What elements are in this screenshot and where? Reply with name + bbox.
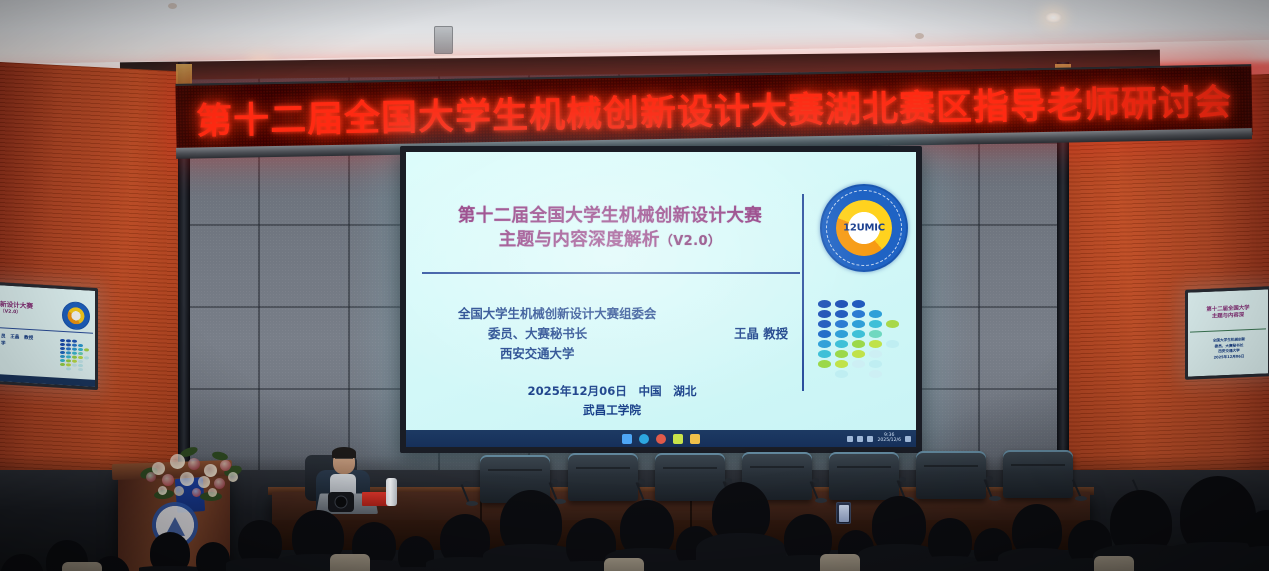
dot-cell <box>78 352 83 355</box>
dot-cell <box>818 310 831 318</box>
dot-cell <box>72 347 77 350</box>
battery-icon[interactable] <box>905 436 911 442</box>
auditorium-seat-back <box>62 562 102 571</box>
network-icon[interactable] <box>857 436 863 442</box>
slide-dot-matrix-graphic <box>818 300 910 384</box>
dot-cell <box>835 350 848 358</box>
audience <box>0 470 1269 571</box>
edge-icon[interactable] <box>639 434 649 444</box>
dot-cell <box>60 351 65 354</box>
dot-cell <box>852 360 865 368</box>
dot-cell <box>869 340 882 348</box>
dot-cell <box>886 340 899 348</box>
taskbar-tray[interactable]: 9:36 2025/12/6 <box>847 430 911 447</box>
dot-cell <box>852 330 865 338</box>
side-monitor-left-version: （V2.0） <box>0 309 66 319</box>
dot-cell <box>818 350 831 358</box>
dot-cell <box>66 347 71 350</box>
slide-title-line2-wrap: 主题与内容深度解析（V2.0） <box>424 228 796 252</box>
audience-head <box>150 532 190 571</box>
dot-cell <box>835 300 848 308</box>
presenter-hair <box>332 447 356 458</box>
dot-cell <box>66 355 71 358</box>
slide-org-row2: 委员、大赛秘书长 王晶 教授 <box>428 324 796 344</box>
audience-head <box>196 542 230 571</box>
auditorium-seat-back <box>1094 556 1134 571</box>
slide-host-line: 武昌工学院 <box>428 401 796 420</box>
folder-icon[interactable] <box>690 434 700 444</box>
dot-cell <box>835 320 848 328</box>
slide-org-line3: 西安交通大学 <box>428 344 796 364</box>
dot-cell <box>84 348 89 351</box>
dot-cell <box>852 340 865 348</box>
side-monitor-left-dot-matrix <box>60 339 90 371</box>
dot-cell <box>60 347 65 350</box>
dot-cell <box>66 363 71 366</box>
taskbar-icon-group[interactable] <box>622 434 700 444</box>
dot-cell <box>852 310 865 318</box>
conference-hall-photo: 第十二届全国大学生机械创新设计大赛湖北赛区指导老师研讨会 第十二届全国大学生机械… <box>0 0 1269 571</box>
dot-cell <box>78 364 83 367</box>
phone-screen <box>839 505 849 522</box>
side-monitor-right-body: 全国大学生机械创新 委员、大赛秘书长 西安交通大学 2025年12月06日 <box>1196 337 1262 362</box>
dot-cell <box>60 343 65 346</box>
start-icon[interactable] <box>622 434 632 444</box>
screen-surface: 第十二届全国大学生机械创新设计大赛 主题与内容深度解析（V2.0） 全国大学生机… <box>406 152 916 447</box>
dot-cell <box>72 351 77 354</box>
slide-title-line2: 主题与内容深度解析 <box>499 230 660 250</box>
dot-cell <box>72 363 77 366</box>
dot-cell <box>852 320 865 328</box>
dot-cell <box>818 320 831 328</box>
dot-cell <box>78 360 83 363</box>
presentation-slide: 第十二届全国大学生机械创新设计大赛 主题与内容深度解析（V2.0） 全国大学生机… <box>406 152 916 430</box>
dot-cell <box>869 320 882 328</box>
dot-cell <box>72 339 77 342</box>
slide-version: （V2.0） <box>660 234 722 249</box>
slide-vertical-divider <box>802 194 804 391</box>
windows-taskbar[interactable]: 9:36 2025/12/6 <box>406 430 916 447</box>
dot-cell <box>84 356 89 359</box>
flower <box>188 458 200 470</box>
projection-screen[interactable]: 第十二届全国大学生机械创新设计大赛 主题与内容深度解析（V2.0） 全国大学生机… <box>400 146 922 453</box>
slide-date-line: 2025年12月06日 中国 湖北 <box>428 382 796 401</box>
auditorium-seat-back <box>820 554 860 571</box>
dot-cell <box>869 310 882 318</box>
side-monitor-left[interactable]: 新设计大赛 （V2.0） 员 王晶 教授 学 <box>0 282 98 390</box>
dot-cell <box>78 356 83 359</box>
volume-icon[interactable] <box>867 436 873 442</box>
slide-org-line2: 委员、大赛秘书长 <box>488 324 587 344</box>
slide-title-divider <box>422 272 800 274</box>
dot-cell <box>72 359 77 362</box>
audience-head <box>0 554 44 571</box>
side-monitor-left-body: 员 王晶 教授 学 <box>1 333 64 351</box>
slide-body: 全国大学生机械创新设计大赛组委会 委员、大赛秘书长 王晶 教授 西安交通大学 <box>428 304 796 364</box>
audience-shoulders <box>139 566 201 571</box>
slide-org-line1: 全国大学生机械创新设计大赛组委会 <box>428 304 796 324</box>
dot-cell <box>78 368 83 371</box>
dot-cell <box>835 370 848 378</box>
side-monitor-left-screen: 新设计大赛 （V2.0） 员 王晶 教授 学 <box>0 285 95 387</box>
auditorium-seat-back <box>330 554 370 571</box>
dot-cell <box>66 351 71 354</box>
dot-cell <box>835 340 848 348</box>
slide-title: 第十二届全国大学生机械创新设计大赛 主题与内容深度解析（V2.0） <box>424 204 796 252</box>
dot-cell <box>869 330 882 338</box>
audience-phone <box>836 502 851 524</box>
dot-cell <box>60 355 65 358</box>
smoke-detector <box>168 3 177 9</box>
dot-cell <box>60 363 65 366</box>
logo-gear-icon <box>68 306 85 324</box>
dot-cell <box>66 343 71 346</box>
slide-title-line1: 第十二届全国大学生机械创新设计大赛 <box>424 204 796 228</box>
smoke-detector <box>915 33 924 39</box>
dot-cell <box>886 320 899 328</box>
dot-cell <box>60 359 65 362</box>
side-monitor-right-screen: 第十二届全国大学 主题与内容深 全国大学生机械创新 委员、大赛秘书长 西安交通大… <box>1188 289 1268 376</box>
audience-camera <box>328 492 354 512</box>
side-monitor-left-title: 新设计大赛 （V2.0） <box>0 301 66 319</box>
dot-cell <box>835 330 848 338</box>
dot-cell <box>66 359 71 362</box>
dot-cell <box>852 350 865 358</box>
taskbar-clock[interactable]: 9:36 2025/12/6 <box>877 434 901 444</box>
dot-cell <box>835 310 848 318</box>
dot-cell <box>72 355 77 358</box>
ceiling-downlight <box>1045 12 1062 23</box>
dot-cell <box>72 343 77 346</box>
competition-logo: 12UMIC <box>820 184 908 272</box>
flower <box>170 454 185 469</box>
dot-cell <box>818 300 831 308</box>
side-monitor-left-taskbar[interactable] <box>0 374 95 387</box>
dot-cell <box>818 340 831 348</box>
side-monitor-left-logo <box>62 300 90 330</box>
dot-cell <box>835 360 848 368</box>
chrome-icon[interactable] <box>656 434 666 444</box>
dot-cell <box>66 339 71 342</box>
auditorium-seat-back <box>604 558 644 571</box>
dot-cell <box>869 370 882 378</box>
slide-presenter: 王晶 教授 <box>734 324 788 344</box>
side-monitor-right-title: 第十二届全国大学 主题与内容深 <box>1192 305 1264 322</box>
chevron-up-icon[interactable] <box>847 436 853 442</box>
audience-shoulders <box>1235 546 1269 571</box>
dot-cell <box>869 350 882 358</box>
side-monitor-right[interactable]: 第十二届全国大学 主题与内容深 全国大学生机械创新 委员、大赛秘书长 西安交通大… <box>1185 286 1269 380</box>
ceiling-vent <box>434 26 453 54</box>
dot-cell <box>852 300 865 308</box>
dot-cell <box>869 360 882 368</box>
dot-cell <box>78 348 83 351</box>
dot-cell <box>818 360 831 368</box>
notes-icon[interactable] <box>673 434 683 444</box>
presenter-glasses <box>335 458 353 463</box>
logo-label: 12UMIC <box>843 223 885 234</box>
dot-cell <box>66 367 71 370</box>
dot-cell <box>78 344 83 347</box>
dot-cell <box>818 330 831 338</box>
clock-date: 2025/12/6 <box>877 438 901 443</box>
side-monitor-right-divider <box>1190 328 1266 332</box>
slide-date-block: 2025年12月06日 中国 湖北 武昌工学院 <box>428 382 796 420</box>
dot-cell <box>60 339 65 342</box>
